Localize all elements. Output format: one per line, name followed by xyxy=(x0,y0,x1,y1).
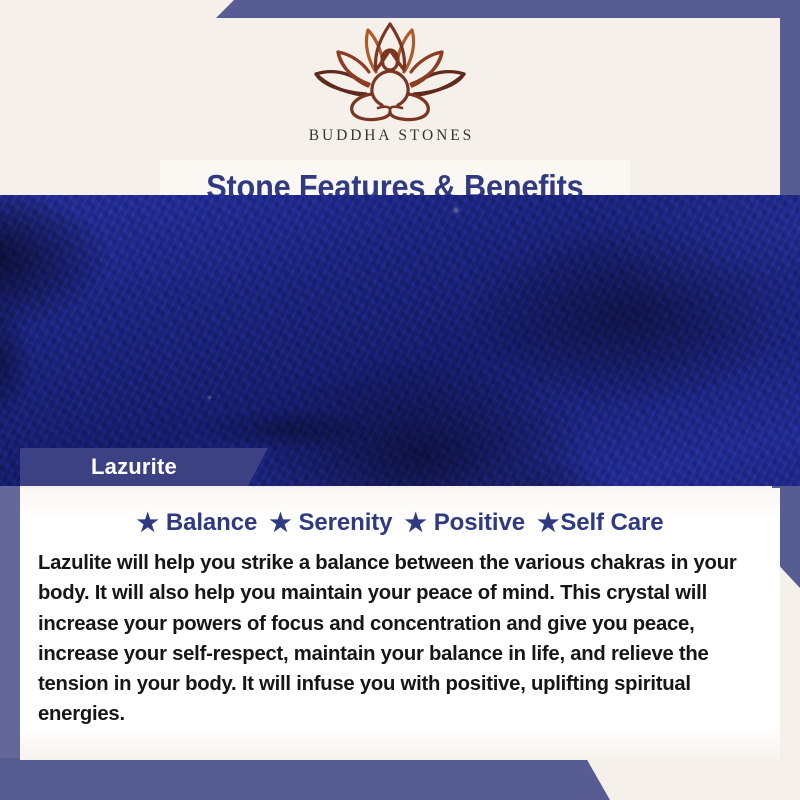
content-card: ★ Balance ★ Serenity ★ Positive ★ Self C… xyxy=(20,488,780,760)
keyword-label: Positive xyxy=(434,509,525,537)
keyword-item-3: ★ Self Care xyxy=(525,509,663,537)
stone-photo xyxy=(0,195,800,486)
brand-logo: BUDDHA STONES xyxy=(0,22,780,145)
infographic-poster: BUDDHA STONES Stone Features & Benefits … xyxy=(0,0,800,800)
stone-texture-shadows xyxy=(0,195,800,486)
left-accent-bar xyxy=(0,486,20,758)
right-accent-bar-top xyxy=(780,0,800,196)
keyword-item-1: ★ Serenity xyxy=(257,509,392,537)
keyword-label: Serenity xyxy=(299,509,393,537)
keyword-label: Self Care xyxy=(560,509,663,537)
stone-name-tag: Lazurite xyxy=(20,448,268,486)
lotus-meditation-figure-icon xyxy=(306,22,474,126)
top-accent-bar xyxy=(0,0,800,18)
brand-name: BUDDHA STONES xyxy=(0,127,780,145)
keyword-item-2: ★ Positive xyxy=(392,509,525,537)
keyword-label: Balance xyxy=(166,509,257,537)
bottom-accent-bar xyxy=(0,758,800,800)
stone-name: Lazurite xyxy=(20,454,177,480)
star-icon: ★ xyxy=(137,511,159,536)
header: BUDDHA STONES Stone Features & Benefits xyxy=(0,18,780,195)
star-icon: ★ xyxy=(269,511,291,536)
keyword-list: ★ Balance ★ Serenity ★ Positive ★ Self C… xyxy=(20,488,780,537)
keyword-item-0: ★ Balance xyxy=(137,509,258,537)
star-icon: ★ xyxy=(537,511,559,536)
star-icon: ★ xyxy=(404,511,426,536)
stone-description: Lazulite will help you strike a balance … xyxy=(38,548,751,730)
